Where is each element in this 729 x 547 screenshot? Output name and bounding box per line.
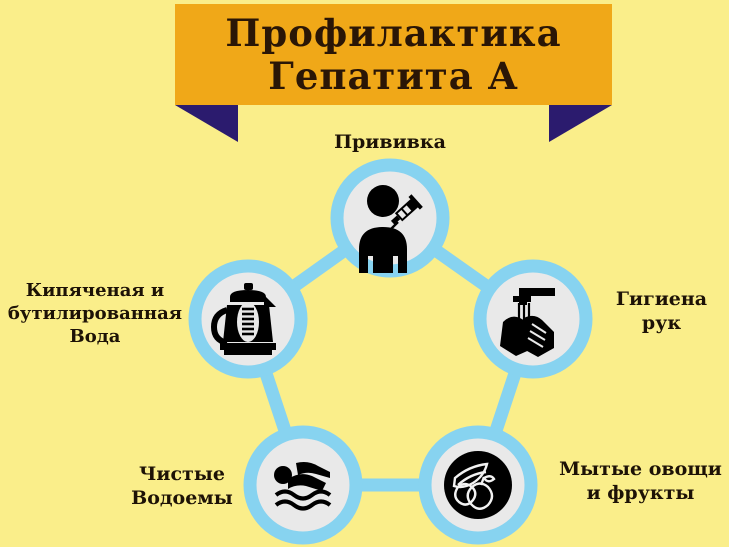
node-label-vaccination: Прививка (300, 130, 480, 154)
node-hand-hygiene[interactable] (480, 266, 586, 372)
node-boiled-bottled-water[interactable] (195, 266, 301, 372)
node-washed-produce[interactable] (425, 432, 531, 538)
node-label-clean-water-bodies: Чистые Водоемы (112, 462, 252, 510)
node-label-boiled-bottled-water: Кипяченая и бутилированная Вода (2, 280, 188, 349)
node-label-washed-produce: Мытые овощи и фрукты (552, 457, 729, 505)
infographic-poster: Профилактика Гепатита А (0, 0, 729, 547)
node-label-hand-hygiene: Гигиена рук (596, 287, 727, 335)
node-vaccination[interactable] (337, 165, 443, 273)
node-clean-water-bodies[interactable] (250, 432, 356, 538)
